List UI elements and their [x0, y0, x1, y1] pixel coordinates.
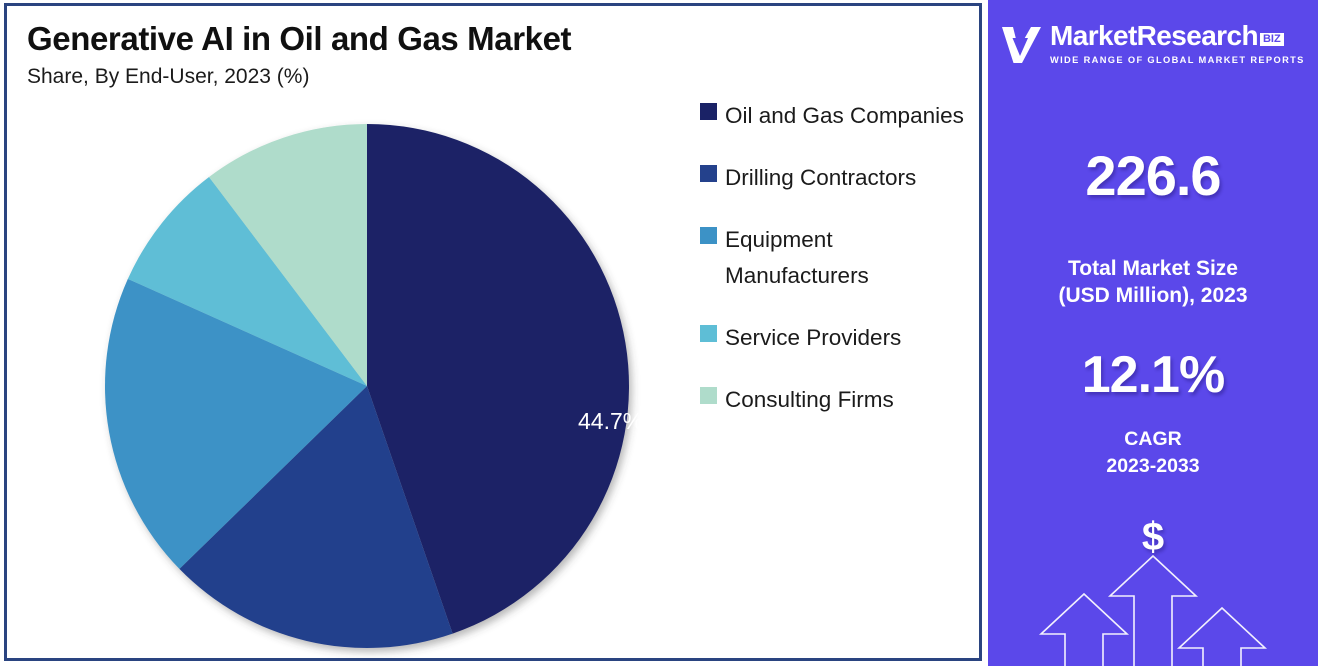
arrow-up-right-icon	[1179, 608, 1265, 666]
checkmark-logo-icon	[998, 22, 1044, 68]
infographic-page: Generative AI in Oil and Gas Market Shar…	[0, 0, 1318, 666]
legend-swatch-icon	[700, 227, 717, 244]
market-size-value: 226.6	[988, 143, 1318, 208]
market-size-caption-line1: Total Market Size	[988, 255, 1318, 282]
page-subtitle: Share, By End-User, 2023 (%)	[27, 65, 309, 89]
legend-swatch-icon	[700, 165, 717, 182]
market-size-caption: Total Market Size (USD Million), 2023	[988, 255, 1318, 309]
legend-item-equipment-manufacturers[interactable]: Equipment Manufacturers	[700, 222, 980, 294]
pie-chart: 44.7%	[95, 114, 640, 659]
brand-tagline: WIDE RANGE OF GLOBAL MARKET REPORTS	[1050, 55, 1305, 65]
brand-text: MarketResearch BIZ WIDE RANGE OF GLOBAL …	[1050, 22, 1310, 68]
market-size-caption-line2: (USD Million), 2023	[988, 282, 1318, 309]
arrow-up-center-icon	[1110, 556, 1196, 666]
brand-logo[interactable]: MarketResearch BIZ WIDE RANGE OF GLOBAL …	[998, 18, 1310, 72]
dollar-sign-icon: $	[988, 517, 1318, 557]
legend-item-drilling-contractors[interactable]: Drilling Contractors	[700, 160, 980, 196]
legend-label: Service Providers	[725, 320, 901, 356]
pie-data-label: 44.7%	[578, 408, 643, 435]
summary-panel: MarketResearch BIZ WIDE RANGE OF GLOBAL …	[988, 0, 1318, 666]
cagr-value: 12.1%	[988, 345, 1318, 405]
brand-name: MarketResearch	[1050, 22, 1258, 50]
chart-legend: Oil and Gas Companies Drilling Contracto…	[700, 98, 980, 444]
legend-label: Consulting Firms	[725, 382, 894, 418]
legend-swatch-icon	[700, 387, 717, 404]
legend-swatch-icon	[700, 325, 717, 342]
pie-chart-svg	[95, 114, 640, 659]
brand-badge: BIZ	[1260, 33, 1284, 46]
cagr-caption: CAGR 2023-2033	[988, 426, 1318, 480]
pie-slices	[105, 124, 629, 648]
cagr-caption-line2: 2023-2033	[988, 453, 1318, 480]
cagr-caption-line1: CAGR	[988, 426, 1318, 453]
brand-name-row: MarketResearch BIZ	[1050, 22, 1310, 50]
growth-arrows-graphic: $	[988, 500, 1318, 666]
legend-item-oil-and-gas-companies[interactable]: Oil and Gas Companies	[700, 98, 980, 134]
legend-item-service-providers[interactable]: Service Providers	[700, 320, 980, 356]
legend-label: Drilling Contractors	[725, 160, 916, 196]
page-title: Generative AI in Oil and Gas Market	[27, 20, 571, 58]
legend-swatch-icon	[700, 103, 717, 120]
legend-item-consulting-firms[interactable]: Consulting Firms	[700, 382, 980, 418]
chart-frame: Generative AI in Oil and Gas Market Shar…	[4, 3, 982, 661]
legend-label: Equipment Manufacturers	[725, 222, 971, 294]
legend-label: Oil and Gas Companies	[725, 98, 964, 134]
arrow-up-left-icon	[1041, 594, 1127, 666]
